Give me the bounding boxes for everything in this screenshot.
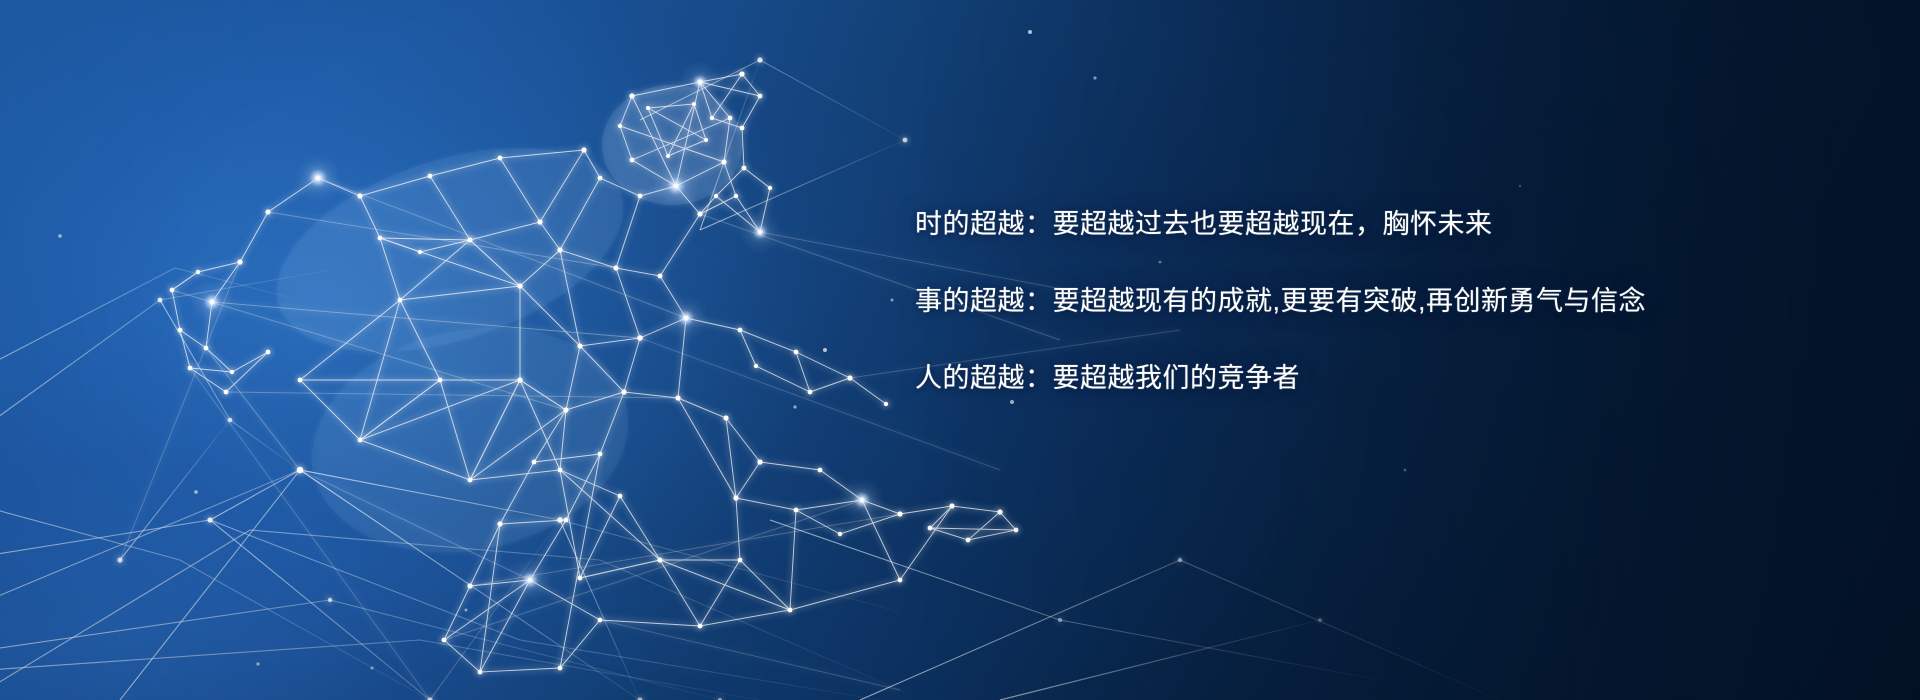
slogan-line-3: 人的超越：要超越我们的竞争者 xyxy=(915,340,1875,417)
slogan-line-2: 事的超越：要超越现有的成就,更要有突破,再创新勇气与信念 xyxy=(915,263,1875,340)
slogan-line-1: 时的超越：要超越过去也要超越现在，胸怀未来 xyxy=(915,186,1875,263)
hero-banner: 时的超越：要超越过去也要超越现在，胸怀未来 事的超越：要超越现有的成就,更要有突… xyxy=(0,0,1920,700)
slogan-text-block: 时的超越：要超越过去也要超越现在，胸怀未来 事的超越：要超越现有的成就,更要有突… xyxy=(915,186,1875,417)
